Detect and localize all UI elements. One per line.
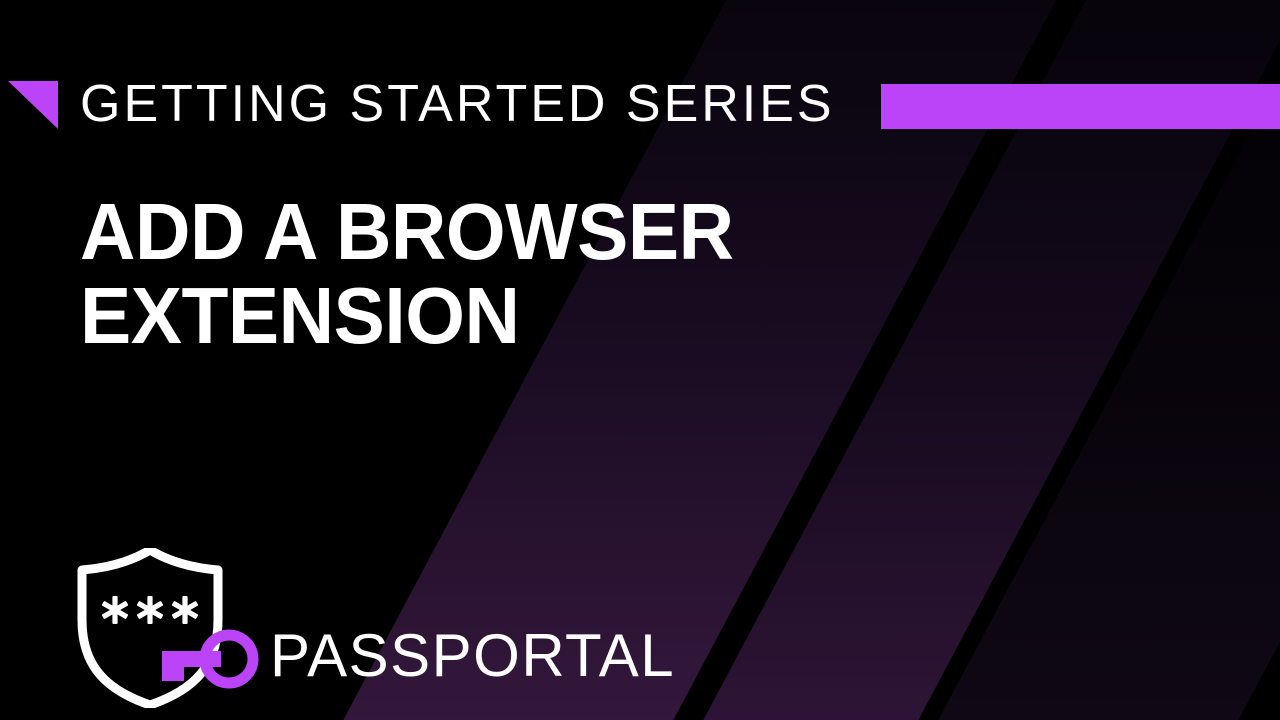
shield-icon — [82, 550, 218, 705]
page-title: ADD A BROWSER EXTENSION — [80, 190, 900, 358]
title-line-2: EXTENSION — [80, 274, 867, 358]
eyebrow-label: GETTING STARTED SERIES — [80, 75, 835, 133]
slide-canvas: GETTING STARTED SERIES ADD A BROWSER EXT… — [0, 0, 1280, 720]
shield-key-logo-icon — [72, 548, 262, 708]
accent-bar — [881, 84, 1280, 129]
title-line-1: ADD A BROWSER — [80, 190, 867, 274]
eyebrow-row: GETTING STARTED SERIES — [0, 78, 1280, 130]
key-icon — [162, 635, 253, 683]
asterisk-glyphs — [102, 596, 199, 624]
triangle-accent-icon — [8, 81, 58, 129]
brand-wordmark: PASSPORTAL — [270, 626, 675, 686]
brand-lockup: PASSPORTAL — [72, 548, 675, 708]
